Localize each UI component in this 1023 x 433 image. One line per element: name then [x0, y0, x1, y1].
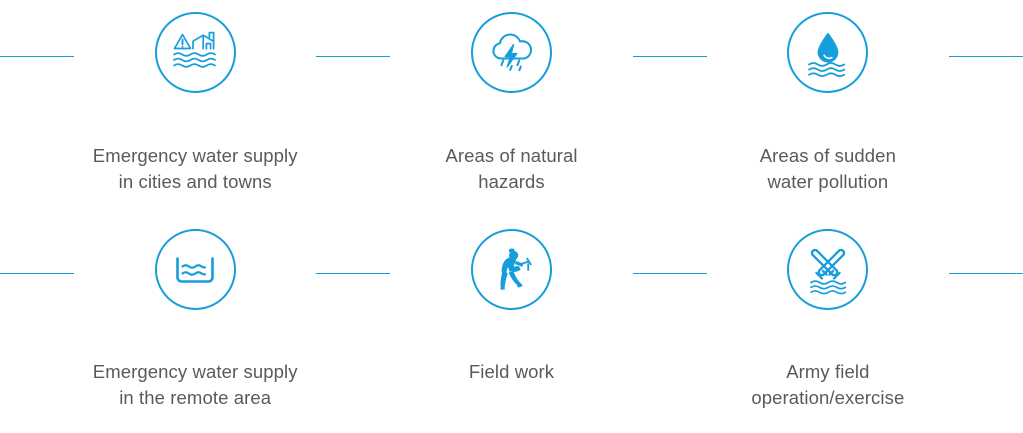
- icon-circle: [155, 229, 236, 310]
- worker-digging-icon: [485, 243, 539, 297]
- scenario-row-top: Emergency water supply in cities and tow…: [0, 0, 1023, 216]
- icon-circle: [787, 12, 868, 93]
- icon-circle: [787, 229, 868, 310]
- scenario-label: Emergency water supply in the remote are…: [93, 359, 298, 412]
- connector-line-right-top: [949, 56, 1023, 57]
- scenario-label: Emergency water supply in cities and tow…: [93, 143, 298, 196]
- connector-line-1-2-top: [316, 56, 390, 57]
- scenario-item-emergency-water-supply-cities[interactable]: Emergency water supply in cities and tow…: [77, 0, 313, 196]
- scenario-row-bottom: Emergency water supply in the remote are…: [0, 217, 1023, 433]
- connector-line-2-3-bottom: [633, 273, 707, 274]
- connector-line-left-bottom: [0, 273, 74, 274]
- scenario-label: Army field operation/exercise: [751, 359, 904, 412]
- icon-circle: [155, 12, 236, 93]
- scenario-label: Areas of sudden water pollution: [760, 143, 896, 196]
- connector-line-1-2-bottom: [316, 273, 390, 274]
- scenario-item-field-work[interactable]: Field work: [394, 217, 630, 385]
- scenario-item-emergency-water-supply-remote[interactable]: Emergency water supply in the remote are…: [77, 217, 313, 412]
- connector-line-2-3-top: [633, 56, 707, 57]
- connector-line-right-bottom: [949, 273, 1023, 274]
- icon-circle: [471, 229, 552, 310]
- storm-cloud-lightning-icon: [483, 24, 541, 82]
- scenario-item-army-field-operation[interactable]: Army field operation/exercise: [710, 217, 946, 412]
- scenario-label: Field work: [469, 359, 554, 385]
- icon-circle: [471, 12, 552, 93]
- flood-warning-house-icon: [165, 23, 225, 83]
- scenario-label: Areas of natural hazards: [445, 143, 577, 196]
- scenario-item-areas-of-natural-hazards[interactable]: Areas of natural hazards: [394, 0, 630, 196]
- water-droplet-waves-icon: [800, 25, 856, 81]
- water-tank-waves-icon: [169, 244, 221, 296]
- connector-line-left-top: [0, 56, 74, 57]
- crossed-swords-waves-icon: [800, 242, 856, 298]
- scenario-diagram: Emergency water supply in cities and tow…: [0, 0, 1023, 433]
- scenario-item-areas-of-sudden-water-pollution[interactable]: Areas of sudden water pollution: [710, 0, 946, 196]
